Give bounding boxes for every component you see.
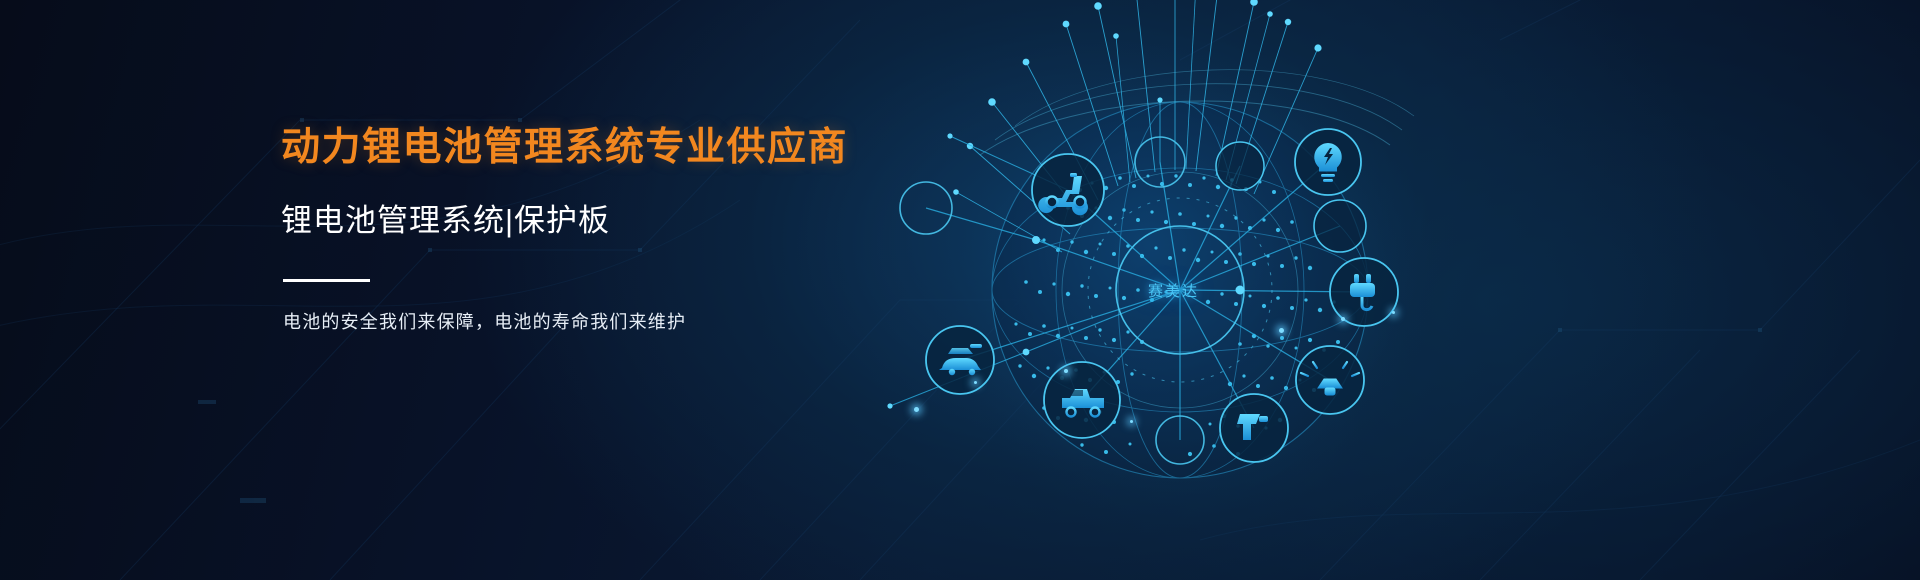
hero-banner: 动力锂电池管理系统专业供应商 锂电池管理系统|保护板 电池的安全我们来保障，电池…: [0, 0, 1920, 580]
power-drill-icon: [1220, 394, 1288, 462]
network-globe-illustration: 赛美达: [830, 0, 1530, 580]
page-subtitle: 锂电池管理系统|保护板: [281, 195, 921, 240]
glow-dot: [1130, 420, 1133, 423]
sedan-car-icon: [926, 326, 994, 394]
page-tagline: 电池的安全我们来保障，电池的寿命我们来维护: [283, 308, 921, 334]
glow-dot: [974, 381, 977, 384]
glow-dot: [914, 407, 919, 412]
light-bulb-icon: [1295, 129, 1361, 195]
glow-dot: [1064, 369, 1068, 373]
hero-text-block: 动力锂电池管理系统专业供应商 锂电池管理系统|保护板 电池的安全我们来保障，电池…: [281, 126, 921, 334]
globe-center-label: 赛美达: [1148, 280, 1199, 301]
battery-icon: [1216, 142, 1264, 190]
glow-dot: [1341, 317, 1345, 321]
title-divider: [283, 279, 370, 282]
glow-dot: [1392, 311, 1395, 314]
desk-lamp-icon: [1296, 346, 1364, 414]
glow-dot: [1279, 328, 1284, 333]
scooter-icon: [1032, 154, 1104, 226]
smartphone-icon: [1314, 200, 1366, 252]
power-plug-icon: [1330, 258, 1398, 326]
pickup-truck-icon: [1044, 362, 1120, 438]
page-title: 动力锂电池管理系统专业供应商: [281, 126, 921, 170]
